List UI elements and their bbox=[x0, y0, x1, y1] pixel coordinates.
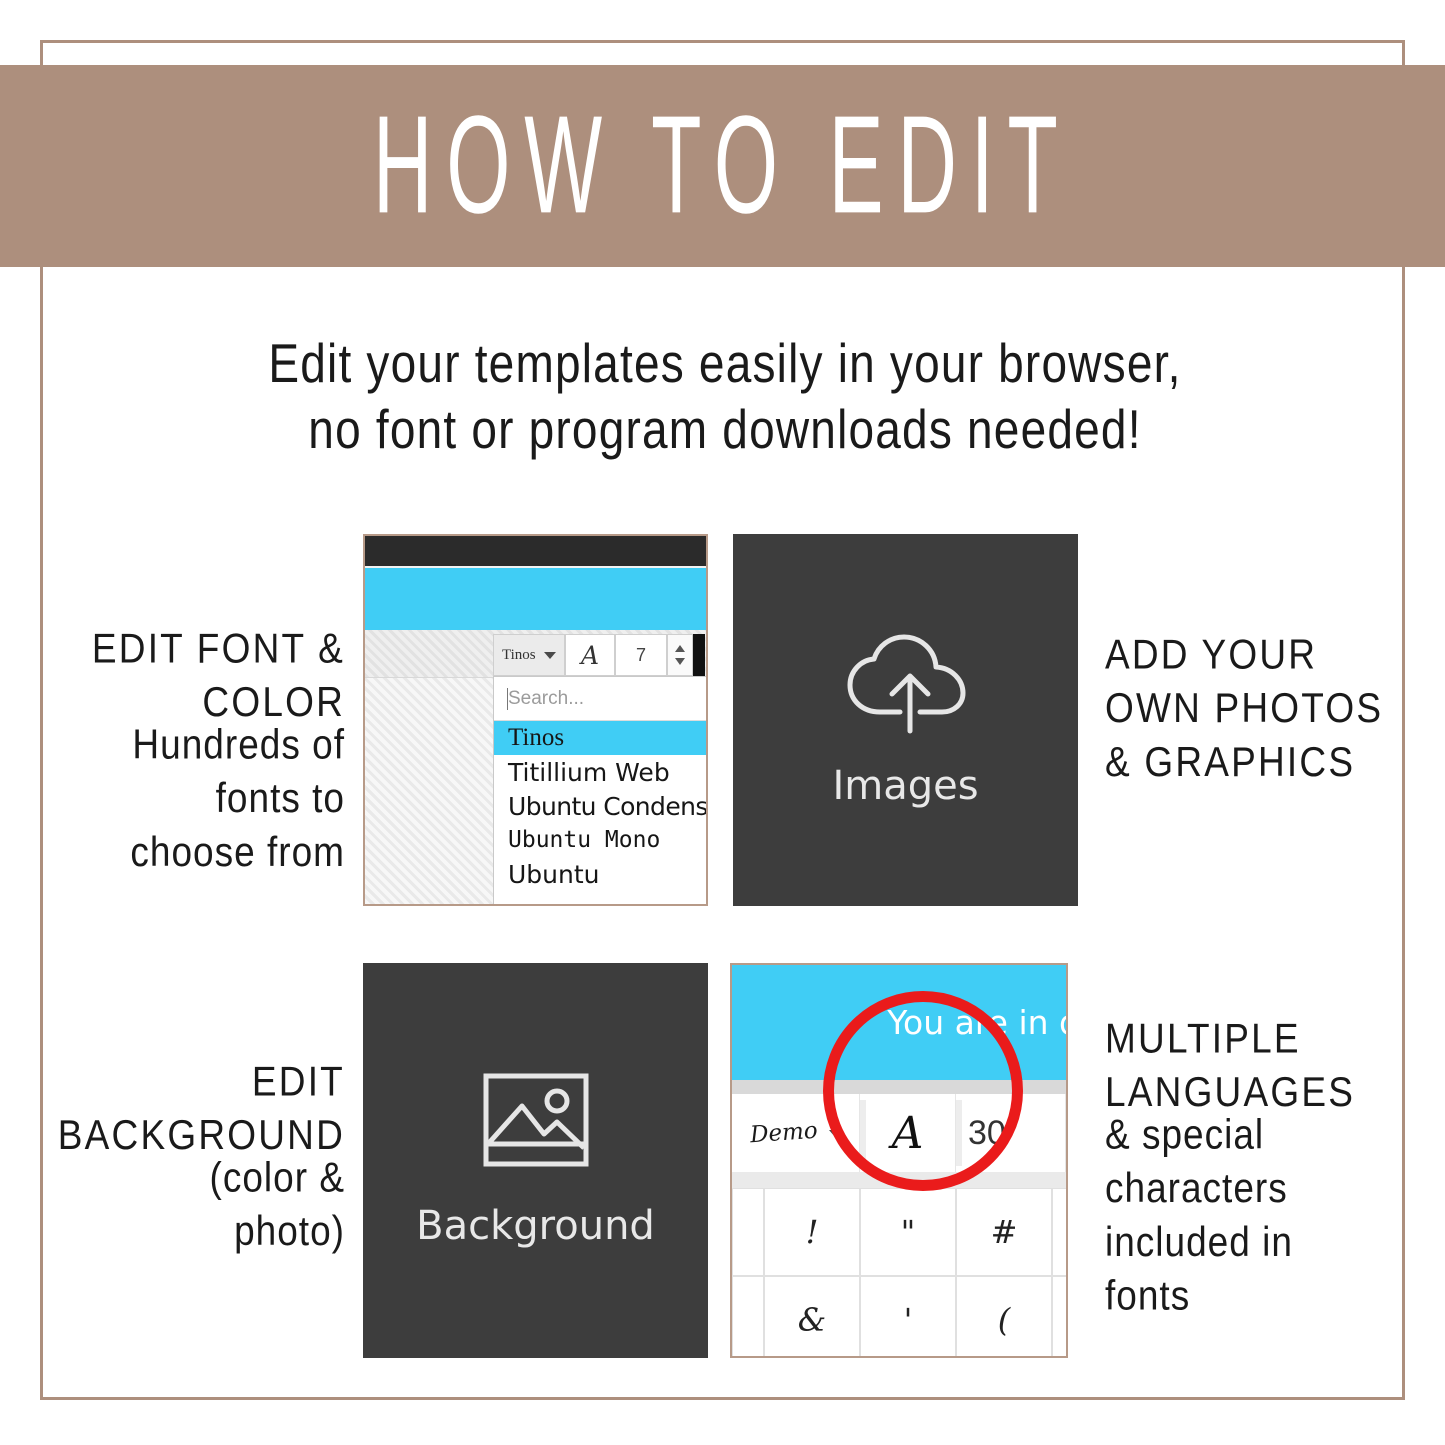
font-option-tinos[interactable]: Tinos bbox=[494, 721, 708, 755]
caption-line: photo) bbox=[25, 1205, 345, 1259]
font-option-ubuntu[interactable]: Ubuntu bbox=[494, 857, 708, 891]
caption-line: EDIT bbox=[25, 1055, 345, 1109]
font-option-ubuntu-condensed[interactable]: Ubuntu Condensed bbox=[494, 789, 708, 823]
screenshot-character-map: You are in d Demo A 30 ! " # & ' bbox=[730, 963, 1068, 1358]
caption-add-photos: ADD YOUR OWN PHOTOS & GRAPHICS bbox=[1105, 628, 1425, 772]
character-cell[interactable] bbox=[1052, 1276, 1068, 1358]
caption-line: choose from bbox=[45, 826, 345, 880]
toolbar-separator bbox=[956, 1100, 962, 1166]
banner-divider bbox=[732, 1080, 1066, 1094]
chevron-down-icon bbox=[829, 1130, 841, 1137]
subtitle-line-2: no font or program downloads needed! bbox=[60, 396, 1390, 462]
screenshot-images-tile[interactable]: Images bbox=[733, 534, 1078, 906]
caption-line: fonts to bbox=[45, 772, 345, 826]
font-family-select[interactable]: Tinos bbox=[493, 634, 565, 676]
character-cell[interactable] bbox=[732, 1276, 764, 1358]
caption-multiple-languages-upper: MULTIPLE LANGUAGES bbox=[1105, 1012, 1425, 1120]
chevron-down-icon bbox=[544, 652, 556, 659]
font-option-ubuntu-mono[interactable]: Ubuntu Mono bbox=[494, 823, 708, 857]
editor-cyan-band bbox=[365, 568, 706, 630]
caption-edit-font-color-upper: EDIT FONT & COLOR bbox=[45, 622, 345, 730]
caption-line: ADD YOUR bbox=[1105, 628, 1425, 682]
character-cell[interactable]: # bbox=[956, 1188, 1052, 1276]
glyph-preview-label: A bbox=[581, 641, 599, 670]
character-map-toolbar: Demo A 30 bbox=[732, 1094, 1066, 1172]
color-swatch-button[interactable] bbox=[693, 634, 705, 676]
font-size-value: 7 bbox=[636, 645, 646, 666]
screenshot-font-editor: Tinos A 7 Search... Tinos bbox=[363, 534, 708, 906]
font-option-label: Ubuntu bbox=[508, 860, 600, 889]
font-option-label: Tinos bbox=[508, 724, 564, 752]
caption-add-photos-upper: ADD YOUR OWN PHOTOS & GRAPHICS bbox=[1105, 628, 1425, 790]
character-map-banner: You are in d bbox=[732, 965, 1066, 1080]
caption-line: MULTIPLE bbox=[1105, 1012, 1425, 1066]
glyph-preview-button[interactable]: A bbox=[860, 1094, 956, 1172]
toolbar-separator bbox=[860, 1100, 866, 1166]
picture-icon bbox=[482, 1072, 590, 1173]
font-family-value: Tinos bbox=[502, 647, 536, 664]
demo-font-select[interactable]: Demo bbox=[732, 1094, 860, 1172]
font-option-titillium-web[interactable]: Titillium Web bbox=[494, 755, 708, 789]
font-toolbar: Tinos A 7 bbox=[493, 634, 705, 676]
text-cursor bbox=[507, 688, 508, 710]
page-title: HOW TO EDIT bbox=[373, 96, 1072, 235]
font-family-dropdown[interactable]: Search... Tinos Titillium Web Ubuntu Con… bbox=[493, 676, 708, 906]
caption-edit-background-upper: EDIT BACKGROUND bbox=[25, 1055, 345, 1163]
font-size-input[interactable]: 7 bbox=[615, 634, 667, 676]
caption-edit-font-color-lower: Hundreds of fonts to choose from bbox=[45, 718, 345, 880]
demo-font-value: Demo bbox=[749, 1118, 818, 1149]
font-size-input[interactable]: 30 bbox=[956, 1094, 1066, 1172]
caption-line: OWN PHOTOS bbox=[1105, 682, 1425, 736]
character-grid: ! " # & ' ( bbox=[732, 1188, 1066, 1358]
grid-divider bbox=[732, 1172, 1066, 1188]
font-option-label: Ubuntu Condensed bbox=[508, 792, 708, 821]
caption-edit-font-color: EDIT FONT & COLOR Hundreds of fonts to c… bbox=[45, 622, 345, 862]
editor-titlebar bbox=[365, 536, 706, 566]
screenshot-background-tile[interactable]: Background bbox=[363, 963, 708, 1358]
caption-line: & special bbox=[1105, 1108, 1425, 1162]
font-option-label: Ubuntu Mono bbox=[508, 827, 660, 853]
header-banner: HOW TO EDIT bbox=[0, 65, 1445, 267]
poster-page: HOW TO EDIT Edit your templates easily i… bbox=[0, 0, 1445, 1445]
images-tile-label: Images bbox=[832, 763, 978, 809]
character-cell[interactable]: ( bbox=[956, 1276, 1052, 1358]
subtitle: Edit your templates easily in your brows… bbox=[60, 330, 1390, 462]
font-size-value: 30 bbox=[968, 1114, 1006, 1153]
caption-line: characters bbox=[1105, 1162, 1425, 1216]
caption-line: & GRAPHICS bbox=[1105, 736, 1425, 790]
font-option-label: Titillium Web bbox=[508, 758, 670, 787]
character-cell[interactable] bbox=[1052, 1188, 1068, 1276]
stepper-down-icon[interactable] bbox=[675, 658, 685, 665]
caption-line: Hundreds of bbox=[45, 718, 345, 772]
stepper-up-icon[interactable] bbox=[675, 645, 685, 652]
caption-multiple-languages-lower: & special characters included in fonts bbox=[1105, 1108, 1425, 1323]
cloud-upload-icon bbox=[842, 632, 970, 741]
caption-edit-background-lower: (color & photo) bbox=[25, 1151, 345, 1259]
caption-multiple-languages: MULTIPLE LANGUAGES & special characters … bbox=[1105, 1012, 1425, 1301]
character-cell[interactable] bbox=[732, 1188, 764, 1276]
caption-line: EDIT FONT & bbox=[45, 622, 345, 676]
caption-line: (color & bbox=[25, 1151, 345, 1205]
caption-line: fonts bbox=[1105, 1270, 1425, 1324]
caption-line: included in bbox=[1105, 1216, 1425, 1270]
character-cell[interactable]: ' bbox=[860, 1276, 956, 1358]
font-search-input[interactable]: Search... bbox=[494, 677, 708, 721]
glyph-preview-button[interactable]: A bbox=[565, 634, 615, 676]
caption-edit-background: EDIT BACKGROUND (color & photo) bbox=[25, 1055, 345, 1247]
character-map-banner-text: You are in d bbox=[887, 1003, 1068, 1042]
background-tile-label: Background bbox=[416, 1203, 655, 1249]
font-search-placeholder: Search... bbox=[508, 688, 584, 710]
glyph-preview-label: A bbox=[892, 1108, 924, 1159]
character-cell[interactable]: " bbox=[860, 1188, 956, 1276]
font-size-stepper[interactable] bbox=[667, 634, 693, 676]
subtitle-line-1: Edit your templates easily in your brows… bbox=[60, 330, 1390, 396]
character-cell[interactable]: & bbox=[764, 1276, 860, 1358]
character-cell[interactable]: ! bbox=[764, 1188, 860, 1276]
